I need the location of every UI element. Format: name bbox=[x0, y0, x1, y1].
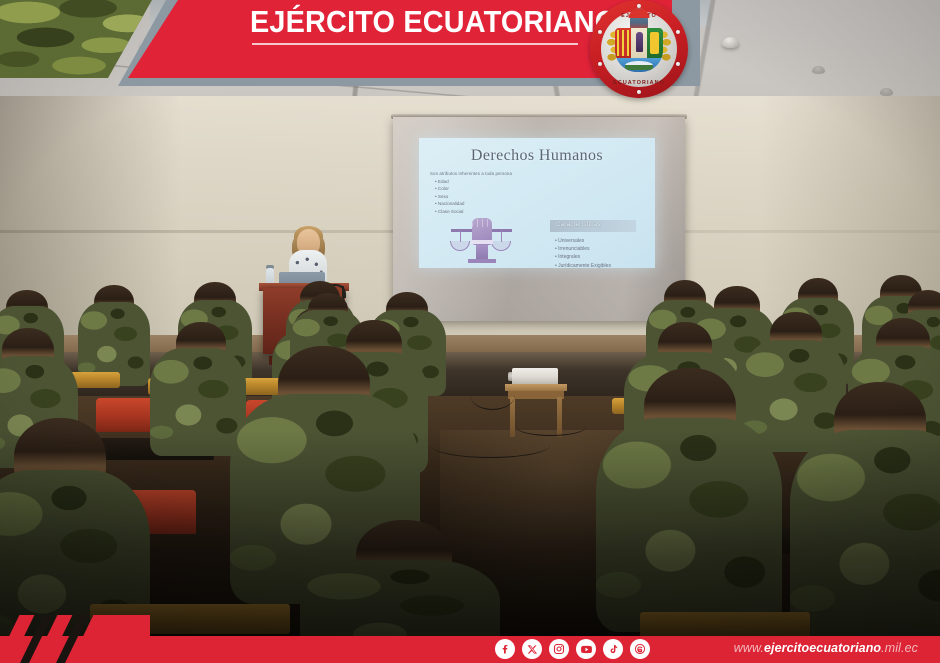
instagram-icon[interactable] bbox=[549, 639, 569, 659]
audience bbox=[0, 0, 940, 663]
emblem-stud-4 bbox=[637, 90, 641, 94]
tiktok-icon[interactable] bbox=[603, 639, 623, 659]
soldier-front-3 bbox=[596, 418, 782, 632]
title-underline bbox=[252, 43, 578, 45]
auditorium-photo: Derechos Humanos Son atributos inherente… bbox=[0, 0, 940, 663]
emblem-shield bbox=[615, 28, 663, 72]
page-title: EJÉRCITO ECUATORIANO bbox=[250, 4, 557, 40]
facebook-icon[interactable] bbox=[495, 639, 515, 659]
emblem-stud-3 bbox=[676, 62, 680, 66]
emblem-stud-6 bbox=[598, 30, 602, 34]
shield-quarter-left bbox=[615, 28, 631, 58]
soldier-uniform bbox=[596, 418, 782, 632]
shield-quarter-right bbox=[647, 28, 663, 58]
url-suffix: .mil.ec bbox=[881, 641, 918, 655]
screenshot-root: Derechos Humanos Son atributos inherente… bbox=[0, 0, 940, 663]
soldier-uniform bbox=[790, 430, 940, 646]
footer-accent-stripes bbox=[0, 615, 150, 663]
soldier-front-4 bbox=[790, 430, 940, 646]
youtube-icon[interactable] bbox=[576, 639, 596, 659]
url-prefix: www. bbox=[734, 641, 764, 655]
shield-base-landscape bbox=[615, 58, 663, 72]
social-links bbox=[495, 639, 650, 659]
x-twitter-icon[interactable] bbox=[522, 639, 542, 659]
brand-header: EJÉRCITO ECUATORIANO EJÉRCITO ECUATORIAN… bbox=[0, 0, 940, 92]
emblem-stud-5 bbox=[598, 62, 602, 66]
emblem-bottom-text: ECUATORIANO bbox=[590, 80, 688, 86]
url-main: ejercitoecuatoriano bbox=[764, 641, 881, 655]
emblem-stud-2 bbox=[676, 30, 680, 34]
shield-figure bbox=[636, 32, 643, 52]
army-emblem: EJÉRCITO ECUATORIANO bbox=[590, 0, 688, 98]
website-url[interactable]: www.ejercitoecuatoriano.mil.ec bbox=[734, 641, 918, 655]
threads-icon[interactable] bbox=[630, 639, 650, 659]
